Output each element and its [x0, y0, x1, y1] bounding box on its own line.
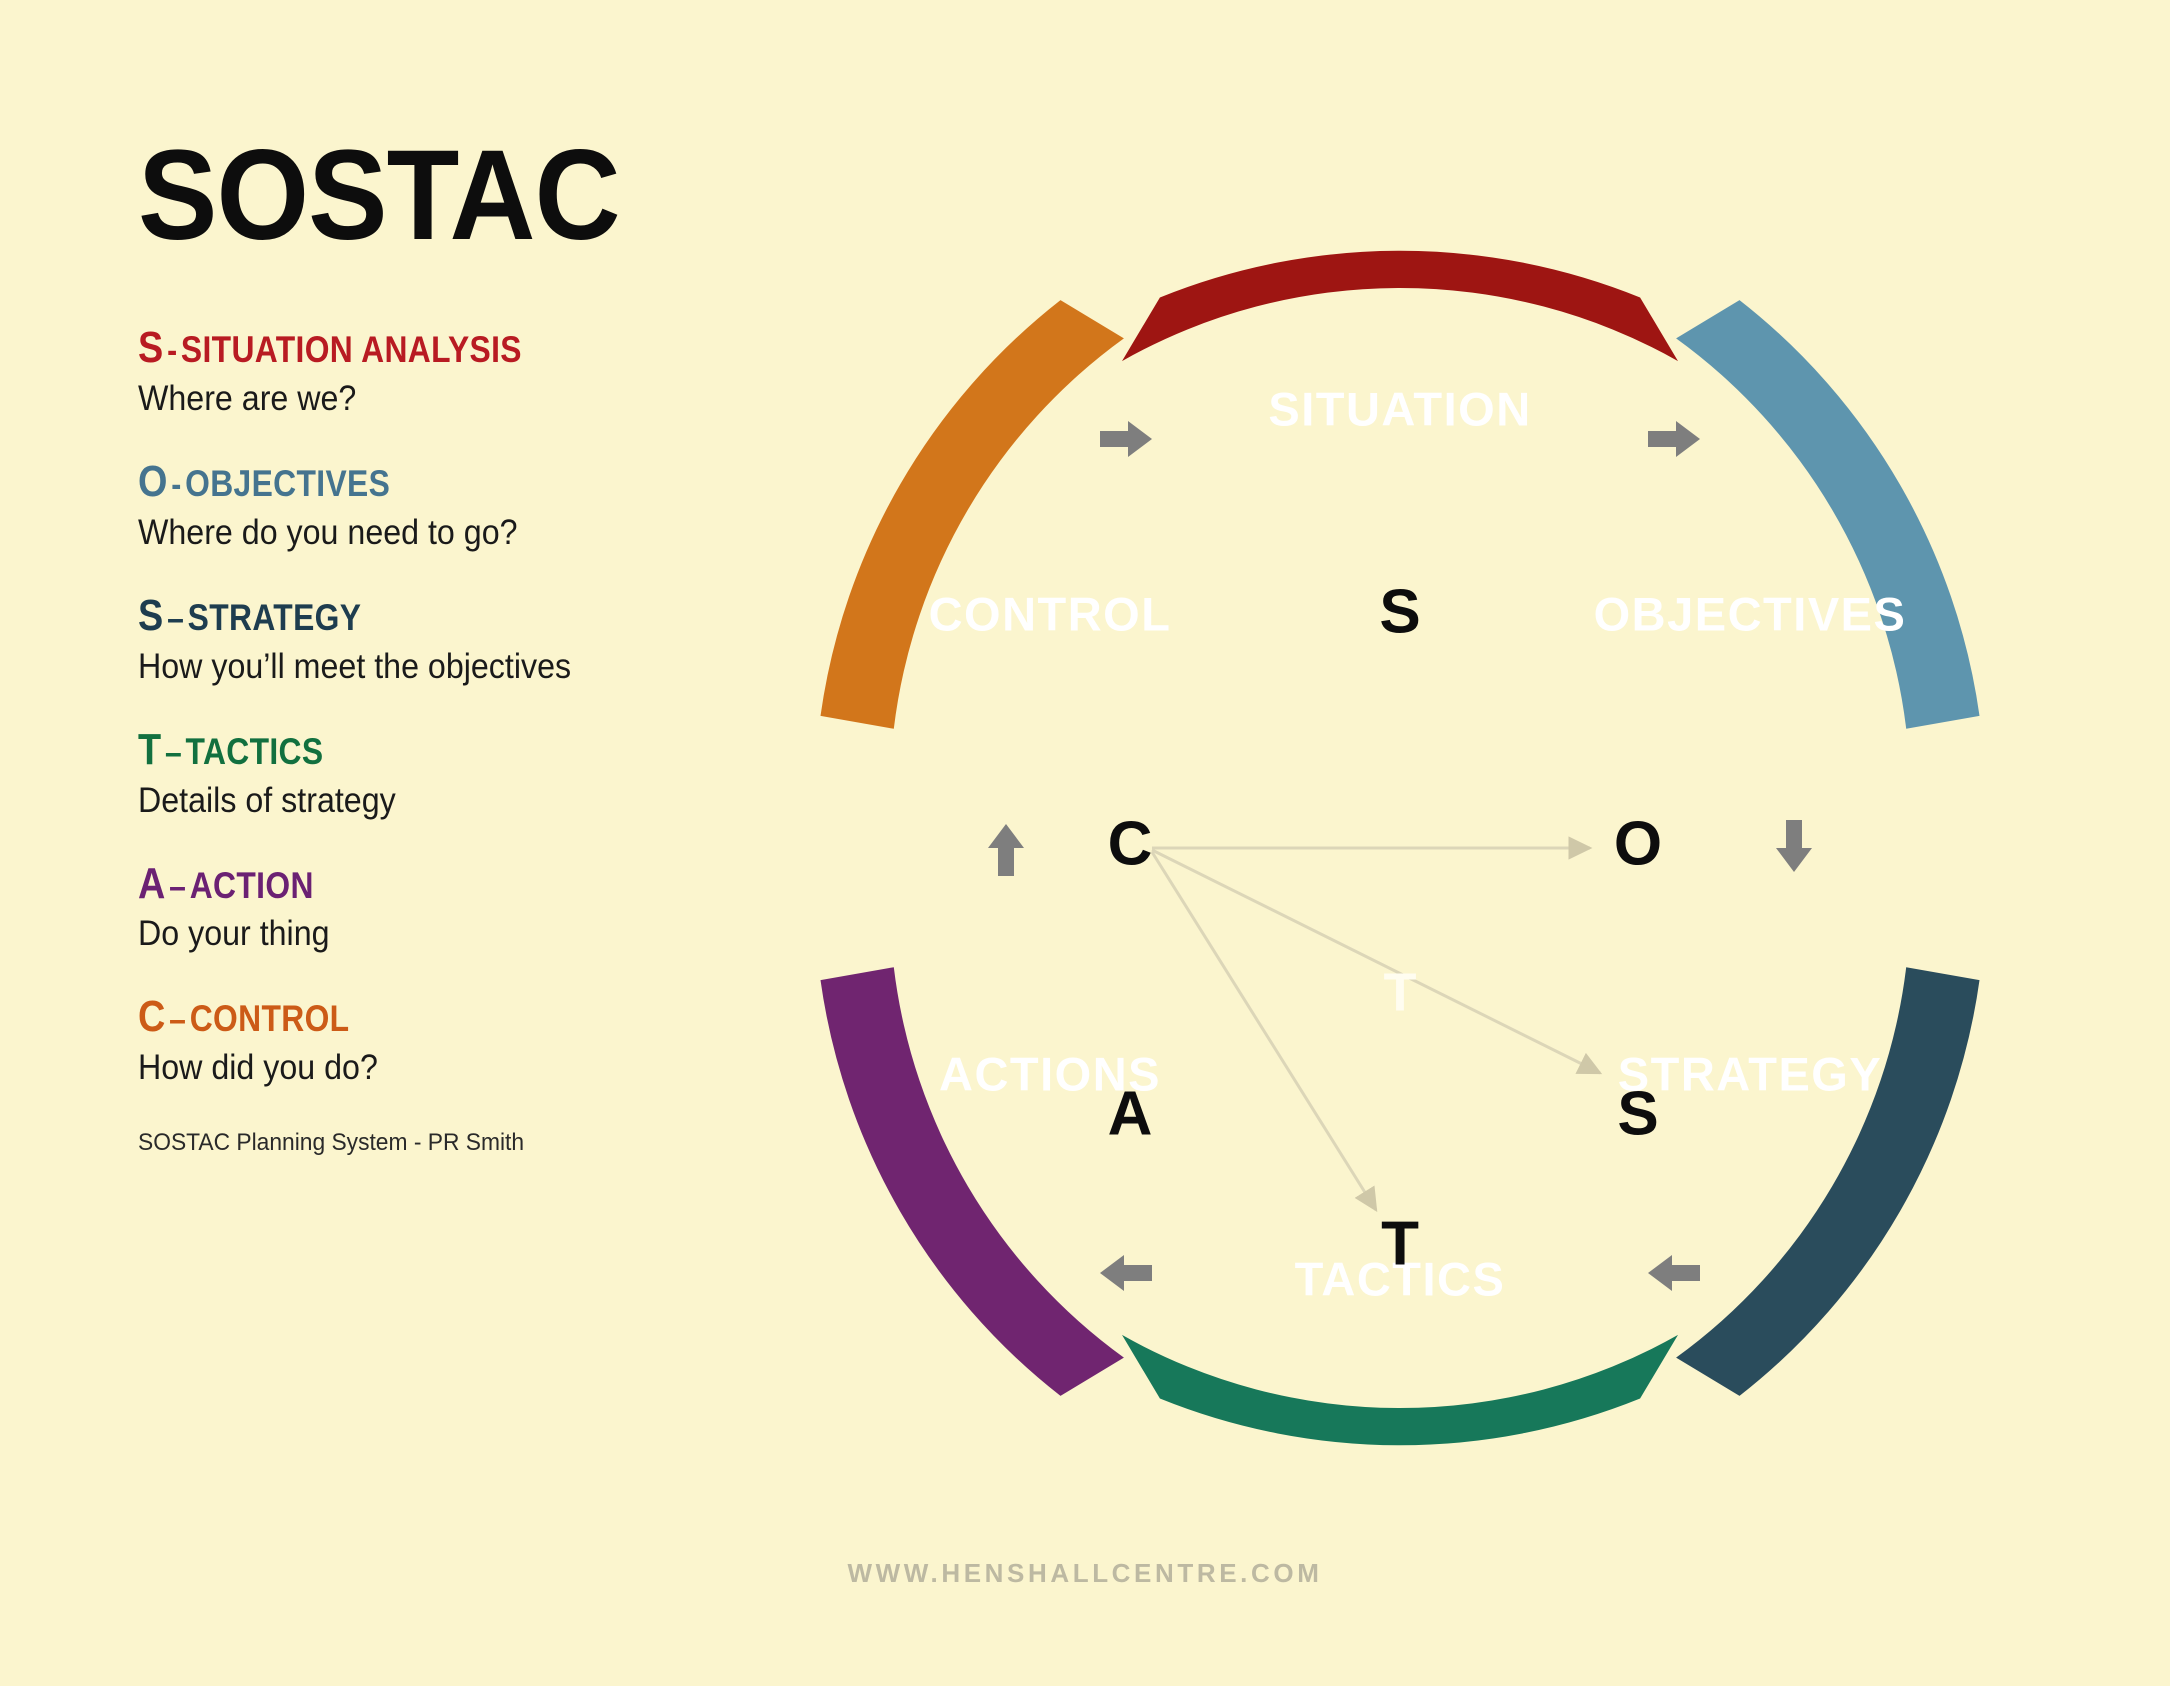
legend-item-tactics: T – TACTICS Details of strategy	[138, 728, 698, 821]
legend-heading-situation: S - SITUATION ANALYSIS	[138, 326, 620, 371]
wheel-segment-objectives[interactable]	[1676, 300, 1979, 729]
flow-arrow-strategy-to-tactics	[1648, 1255, 1700, 1291]
legend-item-strategy: S – STRATEGY How you’ll meet the objecti…	[138, 594, 698, 687]
legend-separator-o: -	[171, 465, 181, 504]
legend-separator-s2: –	[167, 599, 184, 638]
attribution-text: SOSTAC Planning System - PR Smith	[138, 1129, 670, 1157]
wheel-segment-label-control: CONTROL	[929, 587, 1172, 640]
legend-separator-a: –	[169, 867, 186, 906]
legend-letter-s1: S	[138, 323, 163, 372]
legend-word-objectives: OBJECTIVES	[185, 463, 390, 504]
legend-item-situation: S - SITUATION ANALYSIS Where are we?	[138, 326, 698, 419]
legend-separator-s1: -	[167, 331, 177, 370]
hub-letter-t-tactics: T	[1381, 1209, 1419, 1278]
legend-word-tactics: TACTICS	[186, 731, 324, 772]
wheel-segment-situation[interactable]	[1122, 251, 1678, 361]
site-url-footer: WWW.HENSHALLCENTRE.COM	[0, 1558, 2170, 1589]
hub-letter-a-actions: A	[1108, 1079, 1153, 1148]
legend-item-control: C – CONTROL How did you do?	[138, 995, 698, 1088]
page-title: SOSTAC	[138, 132, 659, 260]
flow-arrow-situation-to-objectives	[1648, 421, 1700, 457]
legend-description-action: Do your thing	[138, 914, 653, 954]
wheel-segment-label-situation: SITUATION	[1268, 382, 1531, 435]
wheel-segment-control[interactable]	[821, 300, 1124, 729]
legend-panel: SOSTAC S - SITUATION ANALYSIS Where are …	[138, 132, 698, 1157]
legend-letter-a: A	[138, 859, 165, 908]
legend-heading-control: C – CONTROL	[138, 995, 620, 1040]
sostac-wheel-diagram: SITUATION OBJECTIVES STRATEGY TACTICS AC…	[700, 148, 2100, 1548]
legend-heading-objectives: O - OBJECTIVES	[138, 460, 620, 505]
legend-letter-s2: S	[138, 591, 163, 640]
legend-letter-t: T	[138, 725, 161, 774]
legend-description-objectives: Where do you need to go?	[138, 513, 653, 553]
legend-letter-c: C	[138, 992, 165, 1041]
legend-description-strategy: How you’ll meet the objectives	[138, 647, 653, 687]
legend-item-action: A – ACTION Do your thing	[138, 862, 698, 955]
legend-item-objectives: O - OBJECTIVES Where do you need to go?	[138, 460, 698, 553]
legend-word-control: CONTROL	[190, 998, 350, 1039]
hub-letter-c-control: C	[1108, 809, 1153, 878]
legend-separator-c: –	[169, 1000, 186, 1039]
hub-letter-s-situation: S	[1379, 577, 1420, 646]
wheel-segment-label-objectives: OBJECTIVES	[1594, 587, 1907, 640]
legend-word-situation: SITUATION ANALYSIS	[181, 329, 522, 370]
legend-word-action: ACTION	[190, 865, 314, 906]
legend-heading-strategy: S – STRATEGY	[138, 594, 620, 639]
legend-description-situation: Where are we?	[138, 379, 653, 419]
legend-description-control: How did you do?	[138, 1048, 653, 1088]
wheel-segment-actions[interactable]	[821, 967, 1124, 1396]
flow-arrow-control-to-situation	[1100, 421, 1152, 457]
flow-arrow-tactics-to-actions	[1100, 1255, 1152, 1291]
flow-arrow-actions-to-control	[988, 824, 1024, 876]
legend-description-tactics: Details of strategy	[138, 781, 653, 821]
legend-letter-o: O	[138, 457, 167, 506]
wheel-segment-strategy[interactable]	[1676, 967, 1979, 1396]
wheel-segment-tactics[interactable]	[1122, 1335, 1678, 1445]
legend-word-strategy: STRATEGY	[188, 597, 362, 638]
flow-arrow-objectives-to-strategy	[1776, 820, 1812, 872]
legend-separator-t: –	[165, 733, 182, 772]
hub-letter-o-objectives: O	[1614, 809, 1662, 878]
hub-letter-s-strategy: S	[1617, 1079, 1658, 1148]
legend-heading-action: A – ACTION	[138, 862, 620, 907]
legend-heading-tactics: T – TACTICS	[138, 728, 620, 773]
hub-center-letter: T	[1384, 962, 1417, 1022]
